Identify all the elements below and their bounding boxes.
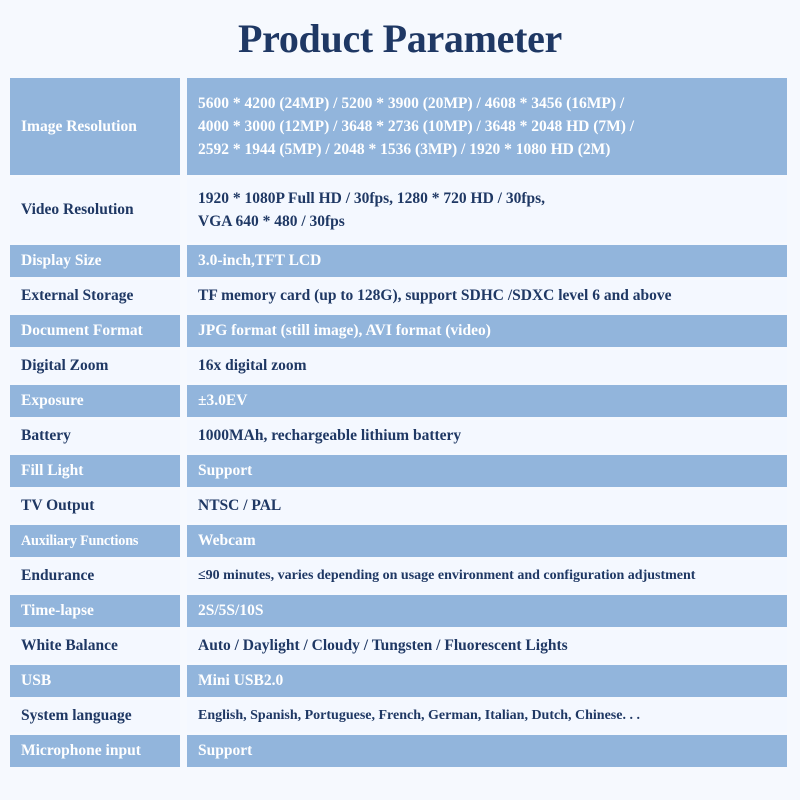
spec-value: Webcam xyxy=(187,525,787,557)
spec-label: External Storage xyxy=(10,280,180,312)
spec-label: Digital Zoom xyxy=(10,350,180,382)
table-row: External Storage TF memory card (up to 1… xyxy=(10,280,787,312)
table-row: Microphone input Support xyxy=(10,735,787,767)
table-row: Display Size 3.0-inch,TFT LCD xyxy=(10,245,787,277)
specification-table: Image Resolution 5600 * 4200 (24MP) / 52… xyxy=(0,78,800,767)
spec-value: 5600 * 4200 (24MP) / 5200 * 3900 (20MP) … xyxy=(187,78,787,175)
spec-value: Auto / Daylight / Cloudy / Tungsten / Fl… xyxy=(187,630,787,662)
table-row: TV Output NTSC / PAL xyxy=(10,490,787,522)
spec-value: 1920 * 1080P Full HD / 30fps, 1280 * 720… xyxy=(187,178,787,242)
table-row: Endurance ≤90 minutes, varies depending … xyxy=(10,560,787,592)
spec-value: JPG format (still image), AVI format (vi… xyxy=(187,315,787,347)
spec-value: ±3.0EV xyxy=(187,385,787,417)
spec-value: TF memory card (up to 128G), support SDH… xyxy=(187,280,787,312)
table-row: Digital Zoom 16x digital zoom xyxy=(10,350,787,382)
spec-value: 2S/5S/10S xyxy=(187,595,787,627)
product-parameter-page: Product Parameter Image Resolution 5600 … xyxy=(0,0,800,800)
spec-label: Battery xyxy=(10,420,180,452)
table-row: Exposure ±3.0EV xyxy=(10,385,787,417)
spec-value: English, Spanish, Portuguese, French, Ge… xyxy=(187,700,787,732)
spec-label: Auxiliary Functions xyxy=(10,525,180,557)
spec-label: USB xyxy=(10,665,180,697)
spec-label: Exposure xyxy=(10,385,180,417)
spec-value: NTSC / PAL xyxy=(187,490,787,522)
spec-label: Endurance xyxy=(10,560,180,592)
table-row: Image Resolution 5600 * 4200 (24MP) / 52… xyxy=(10,78,787,175)
spec-label: Document Format xyxy=(10,315,180,347)
spec-label: Fill Light xyxy=(10,455,180,487)
spec-label: Video Resolution xyxy=(10,178,180,242)
table-row: Time-lapse 2S/5S/10S xyxy=(10,595,787,627)
spec-label: TV Output xyxy=(10,490,180,522)
spec-label: Time-lapse xyxy=(10,595,180,627)
spec-label: Display Size xyxy=(10,245,180,277)
table-row: Video Resolution 1920 * 1080P Full HD / … xyxy=(10,178,787,242)
spec-value: 16x digital zoom xyxy=(187,350,787,382)
spec-value: ≤90 minutes, varies depending on usage e… xyxy=(187,560,787,592)
spec-value: 1000MAh, rechargeable lithium battery xyxy=(187,420,787,452)
spec-value: Support xyxy=(187,455,787,487)
table-row: Auxiliary Functions Webcam xyxy=(10,525,787,557)
table-row: White Balance Auto / Daylight / Cloudy /… xyxy=(10,630,787,662)
spec-value: 3.0-inch,TFT LCD xyxy=(187,245,787,277)
spec-value: Mini USB2.0 xyxy=(187,665,787,697)
spec-label: Image Resolution xyxy=(10,78,180,175)
table-row: Document Format JPG format (still image)… xyxy=(10,315,787,347)
spec-label: Microphone input xyxy=(10,735,180,767)
table-row: USB Mini USB2.0 xyxy=(10,665,787,697)
page-title: Product Parameter xyxy=(0,0,800,62)
table-row: System language English, Spanish, Portug… xyxy=(10,700,787,732)
spec-label: White Balance xyxy=(10,630,180,662)
spec-label: System language xyxy=(10,700,180,732)
table-row: Battery 1000MAh, rechargeable lithium ba… xyxy=(10,420,787,452)
spec-value: Support xyxy=(187,735,787,767)
table-row: Fill Light Support xyxy=(10,455,787,487)
